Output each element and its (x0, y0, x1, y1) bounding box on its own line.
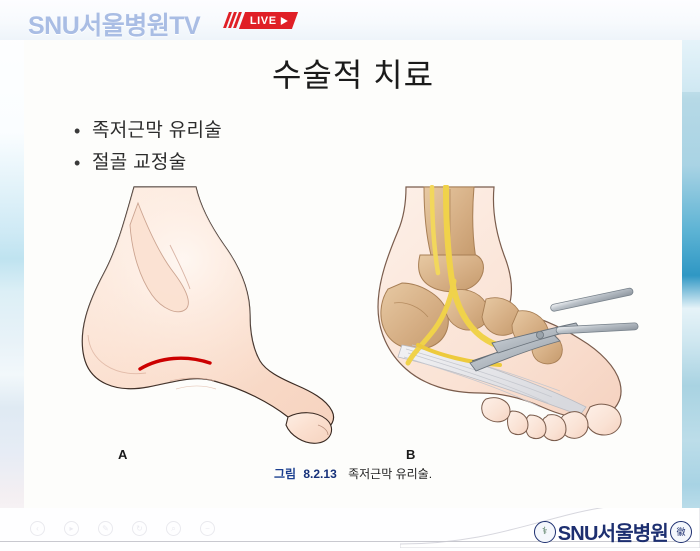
live-indicator: LIVE (226, 10, 295, 30)
slide-title: 수술적 치료 (24, 50, 682, 96)
hospital-emblem-right-icon: 徽 (670, 521, 692, 543)
figure-a-illustration (74, 185, 354, 455)
player-controls[interactable]: ‹ ▸ ✎ ↻ ⌕ − (30, 521, 215, 536)
play-icon[interactable]: ▸ (64, 521, 79, 536)
list-item: • 족저근막 유리술 (74, 118, 222, 144)
play-triangle-icon (281, 16, 288, 24)
caption-prefix: 그림 (274, 467, 296, 481)
hospital-logo: ⚕ SNU서울병원 徽 (534, 517, 692, 546)
figure-group: A (24, 185, 682, 485)
player-footer: ‹ ▸ ✎ ↻ ⌕ − ⚕ SNU서울병원 徽 (0, 508, 700, 551)
channel-brand: SNU서울병원TV (28, 6, 200, 42)
presentation-slide: 수술적 치료 • 족저근막 유리술 • 절골 교정술 (24, 40, 682, 508)
page-background: SNU서울병원TV LIVE 수술적 치료 • 족저근막 유리술 • 절골 교정 (0, 0, 700, 551)
bullet-marker-icon: • (74, 150, 92, 176)
live-label: LIVE (250, 14, 277, 26)
hospital-emblem-left-icon: ⚕ (534, 521, 556, 543)
figure-label-b: B (406, 447, 415, 462)
bullet-text: 족저근막 유리술 (92, 118, 222, 144)
caption-text: 족저근막 유리술. (348, 467, 432, 481)
figure-caption: 그림 8.2.13 족저근막 유리술. (24, 465, 682, 482)
figure-b-illustration (354, 185, 644, 460)
search-icon[interactable]: ⌕ (166, 521, 181, 536)
slash-decoration-icon (226, 12, 239, 28)
refresh-icon[interactable]: ↻ (132, 521, 147, 536)
bullet-marker-icon: • (74, 118, 92, 144)
minus-icon[interactable]: − (200, 521, 215, 536)
caption-number: 8.2.13 (303, 467, 336, 481)
back-icon[interactable]: ‹ (30, 521, 45, 536)
list-item: • 절골 교정술 (74, 150, 222, 176)
bullet-list: • 족저근막 유리술 • 절골 교정술 (74, 118, 222, 182)
bullet-text: 절골 교정술 (92, 150, 186, 176)
hospital-name: SNU서울병원 (558, 517, 668, 546)
stream-header: SNU서울병원TV LIVE (0, 0, 700, 40)
live-badge: LIVE (239, 12, 298, 29)
figure-label-a: A (118, 447, 127, 462)
pen-icon[interactable]: ✎ (98, 521, 113, 536)
left-gradient-frame (0, 0, 24, 551)
